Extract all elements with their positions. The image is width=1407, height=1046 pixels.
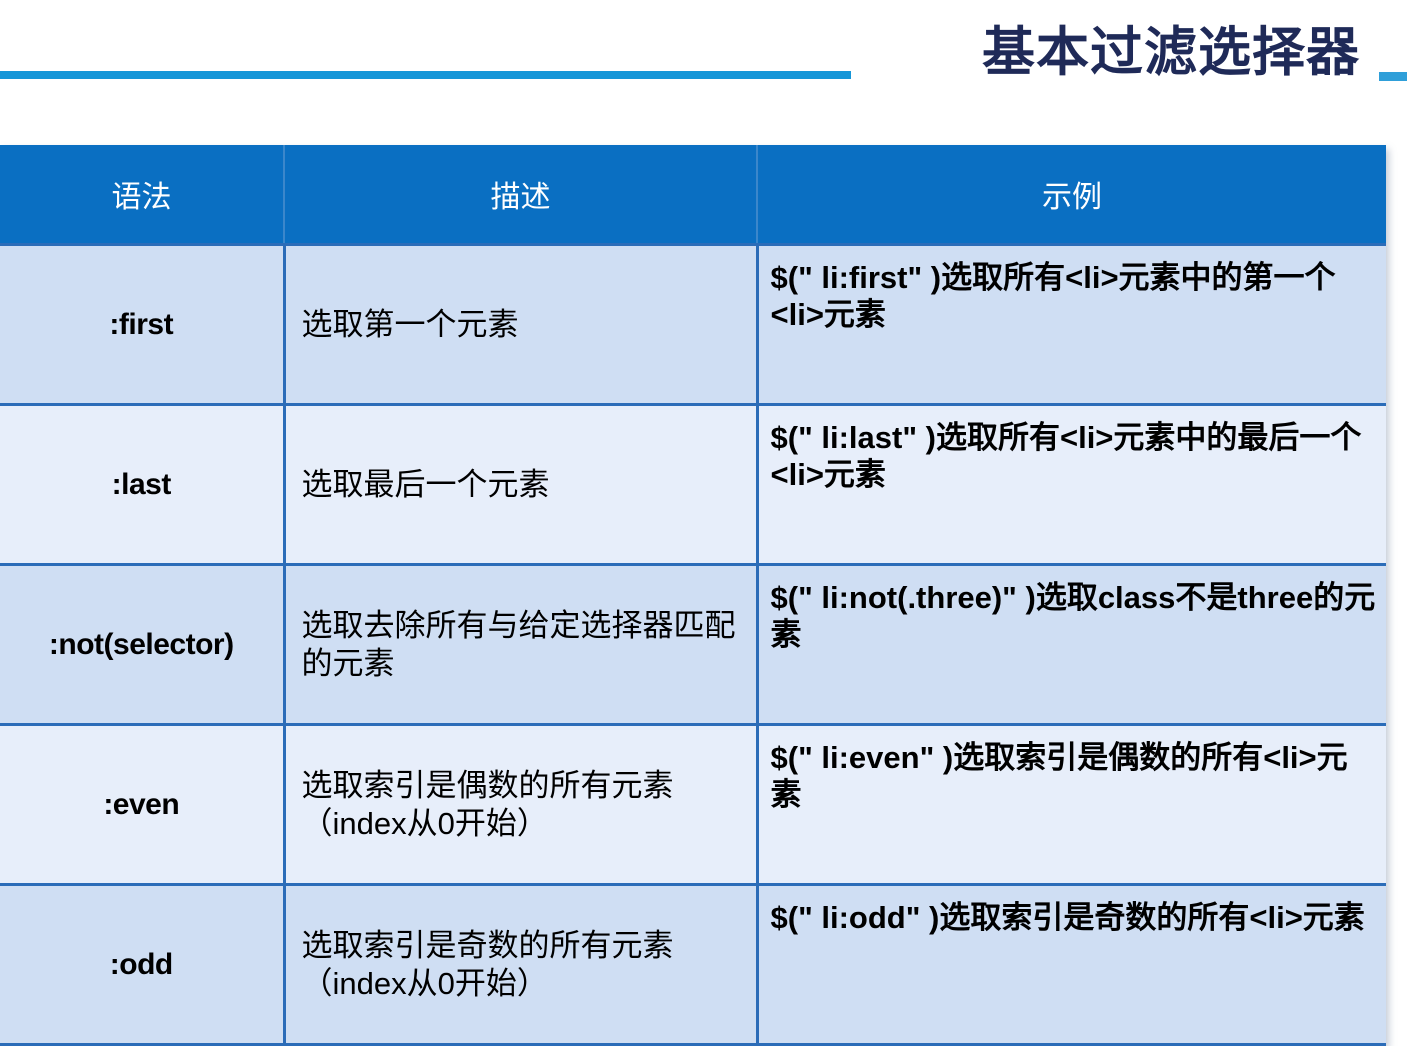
- column-header-description: 描述: [284, 145, 757, 245]
- table-row: :odd 选取索引是奇数的所有元素（index从0开始） $(" li:odd"…: [0, 885, 1386, 1045]
- page-title: 基本过滤选择器: [982, 26, 1360, 79]
- table-row: :not(selector) 选取去除所有与给定选择器匹配的元素 $(" li:…: [0, 565, 1386, 725]
- cell-description: 选取索引是偶数的所有元素（index从0开始）: [284, 725, 757, 885]
- selector-table: 语法 描述 示例 :first 选取第一个元素 $(" li:first" )选…: [0, 145, 1386, 1046]
- cell-syntax: :odd: [0, 885, 284, 1045]
- header-rule: [0, 71, 851, 79]
- slide-header: 基本过滤选择器: [0, 0, 1407, 130]
- cell-syntax: :last: [0, 405, 284, 565]
- cell-example: $(" li:last" )选取所有<li>元素中的最后一个<li>元素: [757, 405, 1386, 565]
- table-body: :first 选取第一个元素 $(" li:first" )选取所有<li>元素…: [0, 245, 1386, 1045]
- cell-example: $(" li:first" )选取所有<li>元素中的第一个<li>元素: [757, 245, 1386, 405]
- table-header: 语法 描述 示例: [0, 145, 1386, 245]
- selector-table-container: 语法 描述 示例 :first 选取第一个元素 $(" li:first" )选…: [0, 145, 1386, 1046]
- cell-syntax: :even: [0, 725, 284, 885]
- cell-example: $(" li:odd" )选取索引是奇数的所有<li>元素: [757, 885, 1386, 1045]
- cell-syntax: :first: [0, 245, 284, 405]
- cell-description: 选取最后一个元素: [284, 405, 757, 565]
- column-header-example: 示例: [757, 145, 1386, 245]
- cell-example: $(" li:even" )选取索引是偶数的所有<li>元素: [757, 725, 1386, 885]
- table-row: :last 选取最后一个元素 $(" li:last" )选取所有<li>元素中…: [0, 405, 1386, 565]
- cell-description: 选取第一个元素: [284, 245, 757, 405]
- table-row: :even 选取索引是偶数的所有元素（index从0开始） $(" li:eve…: [0, 725, 1386, 885]
- cell-description: 选取去除所有与给定选择器匹配的元素: [284, 565, 757, 725]
- cell-description: 选取索引是奇数的所有元素（index从0开始）: [284, 885, 757, 1045]
- cell-syntax: :not(selector): [0, 565, 284, 725]
- table-header-row: 语法 描述 示例: [0, 145, 1386, 245]
- column-header-syntax: 语法: [0, 145, 284, 245]
- table-row: :first 选取第一个元素 $(" li:first" )选取所有<li>元素…: [0, 245, 1386, 405]
- title-accent-dash: [1379, 72, 1407, 81]
- cell-example: $(" li:not(.three)" )选取class不是three的元素: [757, 565, 1386, 725]
